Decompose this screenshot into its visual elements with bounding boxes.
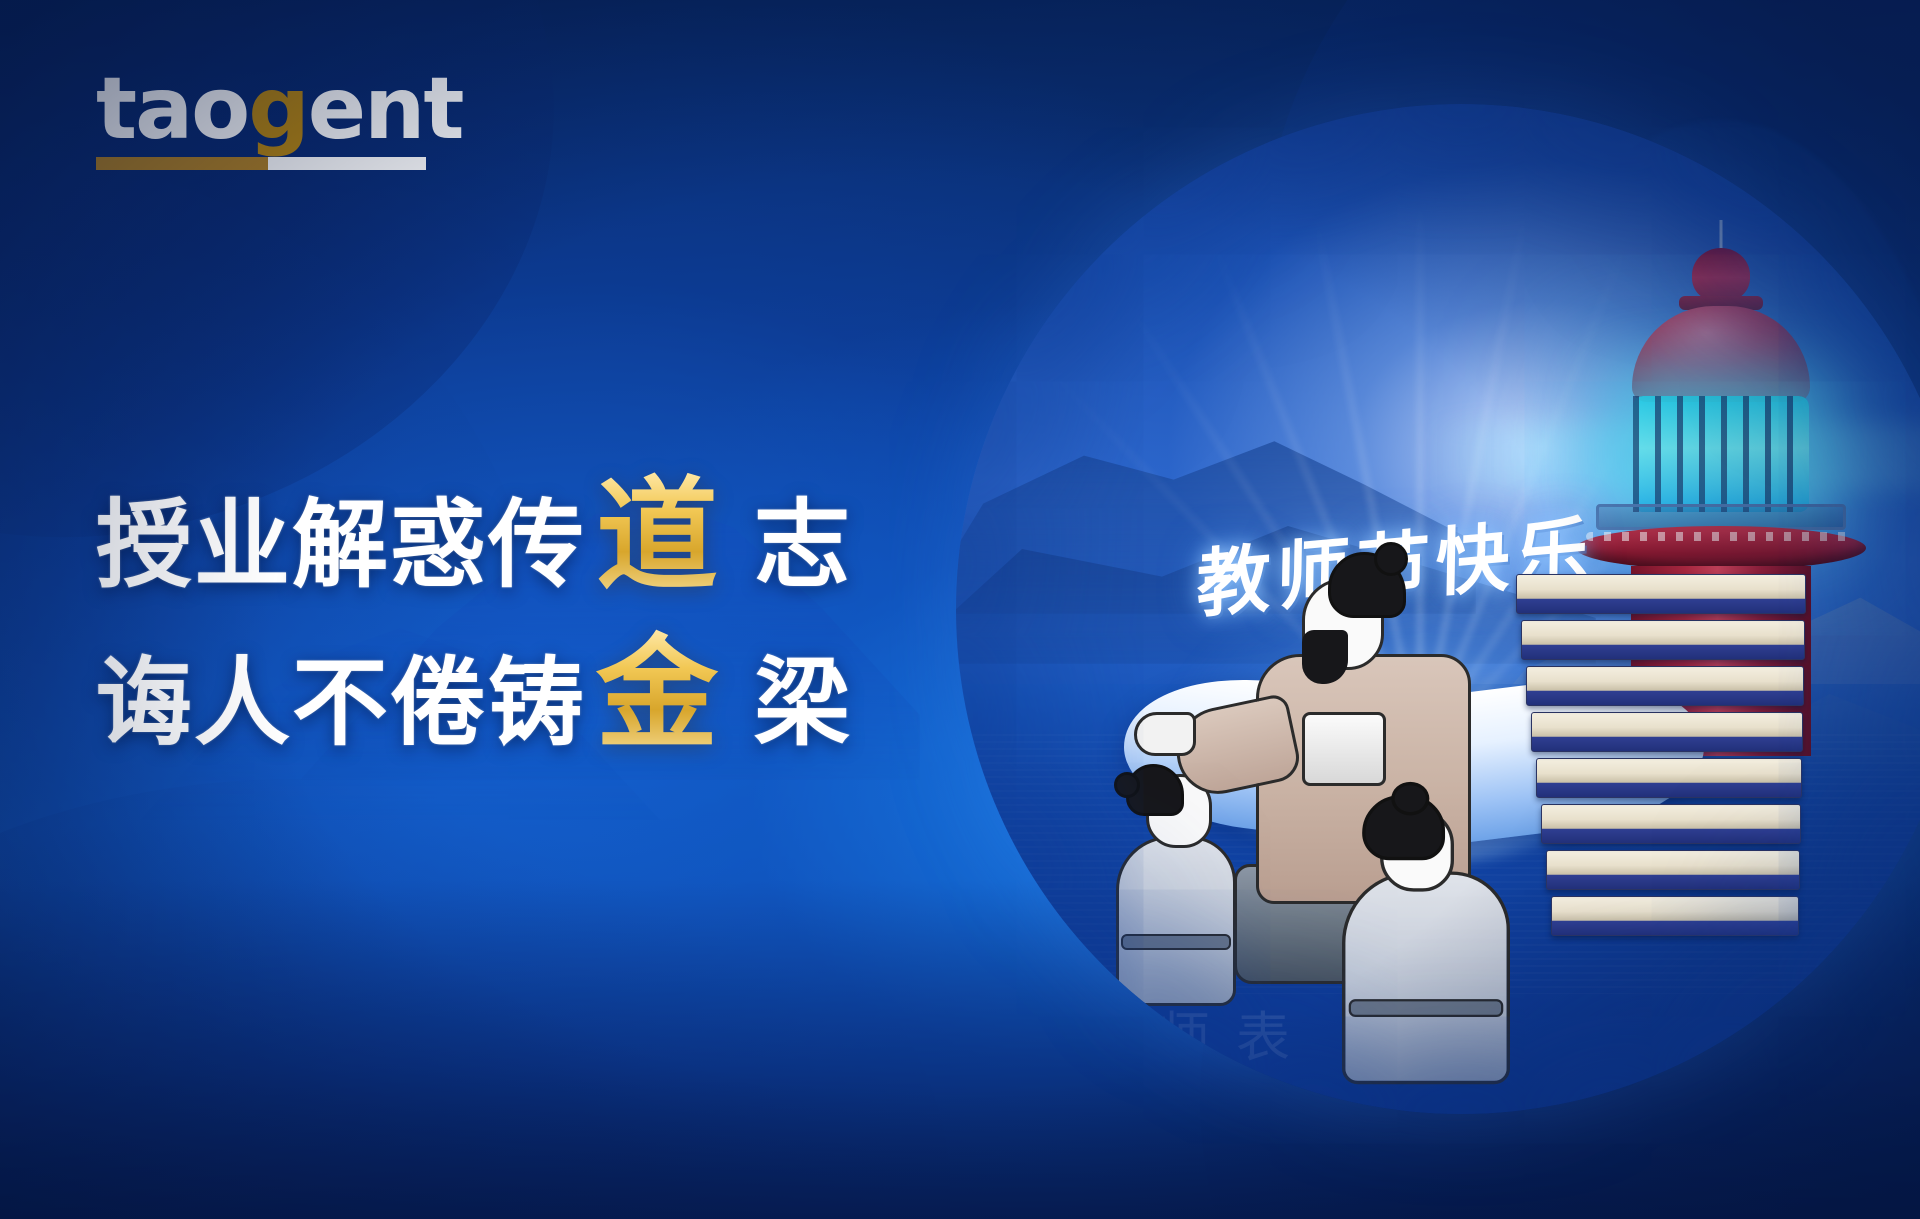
- headline-line-1: 授 业 解 惑 传 道 志: [96, 470, 916, 602]
- teacher-scroll: [1302, 712, 1386, 786]
- headline-char-2-4: 倦: [390, 651, 488, 755]
- lighthouse-lantern: [1633, 396, 1809, 512]
- student-right-body: [1342, 871, 1510, 1084]
- circular-artwork: 教师节快乐: [956, 104, 1920, 1114]
- book-in-stack: [1521, 620, 1805, 660]
- book-in-stack: [1546, 850, 1800, 890]
- lighthouse-top-bulb: [1692, 248, 1750, 302]
- student-left-hair-bun: [1114, 772, 1140, 798]
- banner-canvas: taogent 授 业 解 惑 传 道 志 诲 人 不 倦 铸 金 梁: [0, 0, 1920, 1219]
- book-in-stack: [1551, 896, 1799, 936]
- brand-wordmark-suffix: ent: [308, 59, 463, 159]
- headline-char-1-2: 业: [194, 493, 292, 597]
- teacher-hand: [1134, 712, 1196, 756]
- headline-accent-char-jin: 金: [586, 628, 730, 760]
- headline-char-1-5: 传: [488, 493, 586, 597]
- brand-logo[interactable]: taogent: [96, 68, 436, 170]
- headline-char-1-1: 授: [96, 493, 194, 597]
- brand-wordmark-accent-g: g: [248, 59, 308, 159]
- headline-char-2-3: 不: [292, 651, 390, 755]
- teacher-hair-bun: [1374, 542, 1408, 576]
- book-in-stack: [1541, 804, 1801, 844]
- brand-wordmark: taogent: [96, 68, 436, 151]
- headline-char-2-1: 诲: [96, 651, 194, 755]
- student-left-body: [1116, 836, 1236, 1006]
- headline-char-1-7: 志: [730, 493, 852, 597]
- headline-char-2-7: 梁: [730, 651, 852, 755]
- lighthouse-dome: [1632, 306, 1810, 402]
- headline-accent-char-dao: 道: [586, 470, 730, 602]
- student-left-sash: [1121, 934, 1231, 950]
- student-right-sash: [1349, 999, 1504, 1017]
- book-in-stack: [1531, 712, 1803, 752]
- headline-slogan: 授 业 解 惑 传 道 志 诲 人 不 倦 铸 金 梁: [96, 470, 916, 786]
- wave-shape-bottom-left: [0, 779, 950, 1219]
- headline-char-1-4: 惑: [390, 493, 488, 597]
- student-right-hair-bun: [1391, 782, 1429, 816]
- lighthouse-lantern-bars: [1633, 396, 1809, 512]
- headline-char-1-3: 解: [292, 493, 390, 597]
- headline-char-2-5: 铸: [488, 651, 586, 755]
- logo-underline-gold-segment: [96, 157, 268, 170]
- logo-underline-white-segment: [268, 157, 426, 170]
- headline-line-2: 诲 人 不 倦 铸 金 梁: [96, 628, 916, 760]
- book-in-stack: [1526, 666, 1804, 706]
- brand-wordmark-prefix: tao: [96, 59, 248, 159]
- headline-char-2-2: 人: [194, 651, 292, 755]
- book-in-stack: [1536, 758, 1802, 798]
- logo-underline: [96, 157, 426, 170]
- book-in-stack: [1516, 574, 1806, 614]
- teacher-beard: [1302, 630, 1348, 684]
